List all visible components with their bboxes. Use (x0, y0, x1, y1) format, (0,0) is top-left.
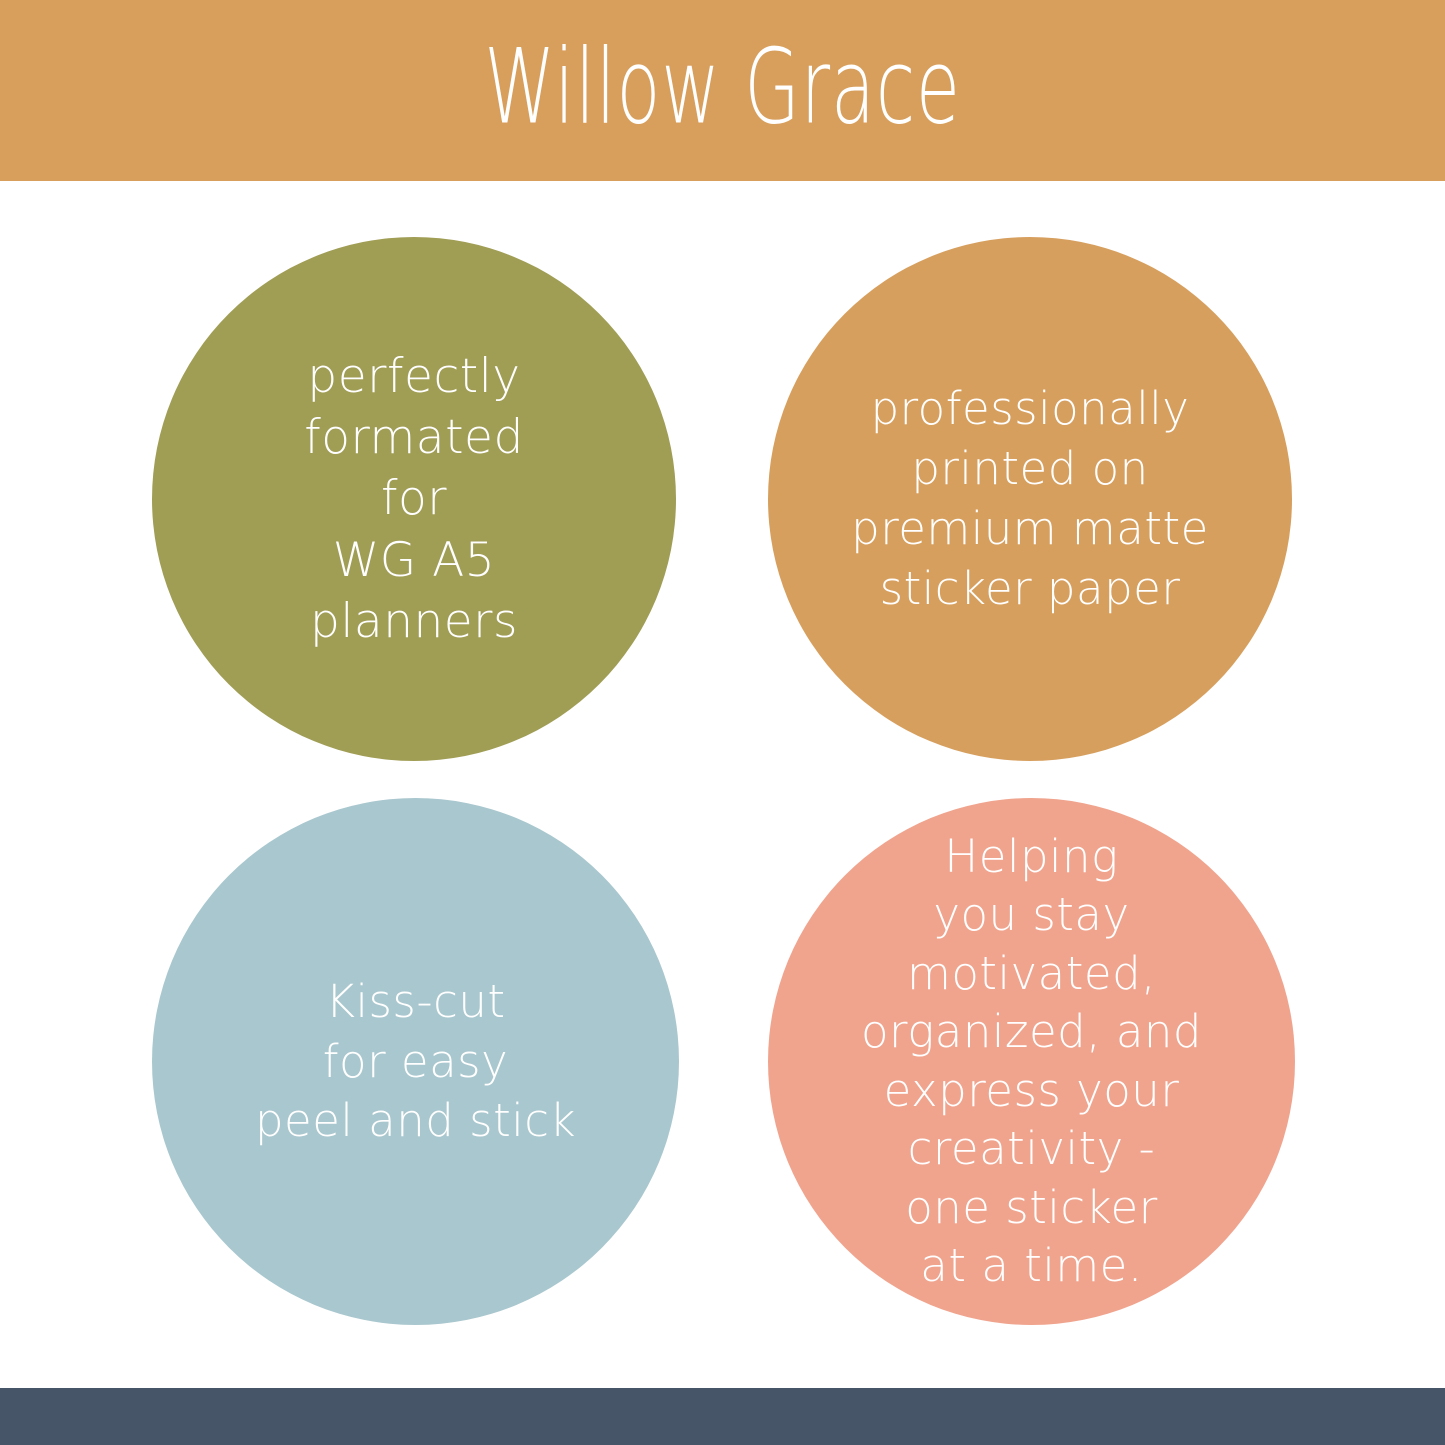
feature-circle-printing: professionally printed on premium matte … (768, 237, 1292, 761)
brand-title: Willow Grace (484, 36, 961, 139)
brand-info-card: Willow Grace perfectly formated for WG A… (0, 0, 1445, 1445)
footer-band (0, 1388, 1445, 1445)
feature-circle-grid: perfectly formated for WG A5 planners pr… (0, 181, 1445, 1388)
feature-circle-mission-text: Helping you stay motivated, organized, a… (861, 828, 1202, 1296)
feature-circle-mission: Helping you stay motivated, organized, a… (768, 798, 1295, 1325)
feature-circle-format-text: perfectly formated for WG A5 planners (304, 346, 524, 651)
feature-circle-kiss-cut-text: Kiss-cut for easy peel and stick (255, 972, 576, 1152)
feature-circle-format: perfectly formated for WG A5 planners (152, 237, 676, 761)
header-band: Willow Grace (0, 0, 1445, 181)
feature-circle-printing-text: professionally printed on premium matte … (851, 379, 1209, 618)
feature-circle-kiss-cut: Kiss-cut for easy peel and stick (152, 798, 679, 1325)
